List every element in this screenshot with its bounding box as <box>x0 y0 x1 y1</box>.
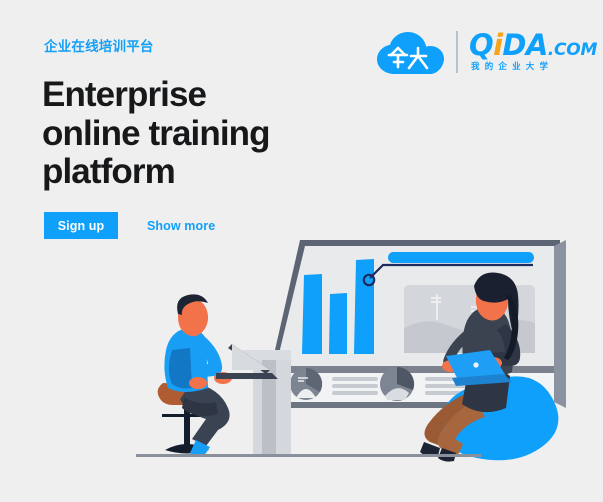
laptop-logo-dot <box>473 362 478 367</box>
logo-wordmark: QiDA.COM <box>469 31 597 60</box>
man-shirt-shadow <box>169 348 192 389</box>
text-lines-1 <box>332 377 378 395</box>
page-title: Enterprise online training platform <box>42 76 372 192</box>
headline-line-1: Enterprise <box>42 76 372 115</box>
hero-illustration <box>0 232 603 472</box>
logo-divider <box>456 31 458 73</box>
logo-i: i <box>493 28 502 62</box>
eyebrow-text: 企业在线培训平台 <box>44 41 154 55</box>
brand-logo[interactable]: QiDA.COM 我的企业大学 <box>374 27 560 77</box>
headline-line-3: platform <box>42 153 372 192</box>
logo-q: Q <box>469 28 493 62</box>
show-more-link[interactable]: Show more <box>147 219 215 233</box>
logo-da: DA <box>502 28 547 62</box>
ground-line <box>136 454 481 457</box>
bar-2 <box>329 293 347 354</box>
screen-right-edge <box>554 240 566 408</box>
illustration-svg <box>0 232 603 472</box>
headline-line-2: online training <box>42 115 372 154</box>
laptop-base <box>216 373 278 379</box>
pie-chart-2 <box>380 367 414 401</box>
bar-1 <box>302 274 322 354</box>
cloud-logo-icon <box>374 28 446 76</box>
hero-banner: 企业在线培训平台 Enterprise online training plat… <box>0 0 603 502</box>
man-hand-left <box>189 377 207 389</box>
logo-dotcom: .COM <box>548 40 598 60</box>
topbar-pill <box>388 252 534 263</box>
logo-tagline: 我的企业大学 <box>471 63 553 72</box>
bar-3 <box>354 259 374 354</box>
pie-chart-1 <box>290 368 322 400</box>
